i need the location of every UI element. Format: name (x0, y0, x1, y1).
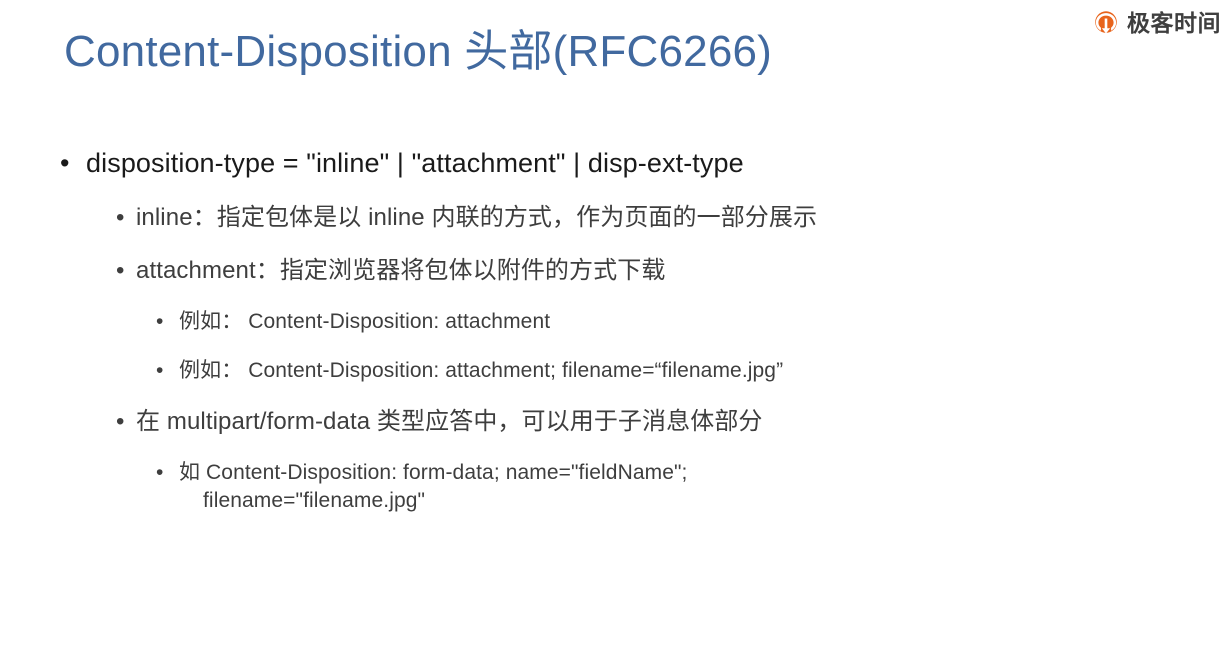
bullet-text: attachment：指定浏览器将包体以附件的方式下载 (136, 255, 665, 286)
bullet-glyph-icon: • (60, 146, 86, 180)
page-title: Content-Disposition 头部(RFC6266) (64, 26, 772, 79)
bullet-text: disposition-type = "inline" | "attachmen… (86, 146, 744, 180)
bullet-item-example-attachment: • 例如： Content-Disposition: attachment (0, 308, 1229, 336)
bullet-item-attachment: • attachment：指定浏览器将包体以附件的方式下载 (0, 255, 1229, 286)
bullet-glyph-icon: • (116, 406, 136, 437)
bullet-item-example-attachment-filename: • 例如： Content-Disposition: attachment; f… (0, 357, 1229, 385)
geektime-circle-arrow-icon (1091, 8, 1121, 38)
bullet-text-continuation: filename="filename.jpg" (179, 487, 687, 515)
bullet-glyph-icon: • (156, 357, 179, 385)
bullet-text: 例如： Content-Disposition: attachment; fil… (179, 357, 783, 385)
bullet-item-inline: • inline：指定包体是以 inline 内联的方式，作为页面的一部分展示 (0, 202, 1229, 233)
brand-logo: 极客时间 (1091, 8, 1221, 38)
bullet-item-example-form-data: • 如 Content-Disposition: form-data; name… (0, 459, 1229, 515)
bullet-text: inline：指定包体是以 inline 内联的方式，作为页面的一部分展示 (136, 202, 817, 233)
bullet-text: 例如： Content-Disposition: attachment (179, 308, 550, 336)
bullet-item-disposition-type: • disposition-type = "inline" | "attachm… (0, 146, 1229, 180)
bullet-item-multipart-form-data: • 在 multipart/form-data 类型应答中，可以用于子消息体部分 (0, 406, 1229, 437)
bullet-glyph-icon: • (116, 202, 136, 233)
bullet-glyph-icon: • (116, 255, 136, 286)
brand-name: 极客时间 (1127, 12, 1221, 35)
bullet-glyph-icon: • (156, 308, 179, 336)
slide-body: • disposition-type = "inline" | "attachm… (0, 146, 1229, 536)
bullet-text: 在 multipart/form-data 类型应答中，可以用于子消息体部分 (136, 406, 763, 437)
bullet-glyph-icon: • (156, 459, 179, 487)
bullet-text: 如 Content-Disposition: form-data; name="… (179, 461, 687, 484)
bullet-text-block: 如 Content-Disposition: form-data; name="… (179, 459, 687, 515)
